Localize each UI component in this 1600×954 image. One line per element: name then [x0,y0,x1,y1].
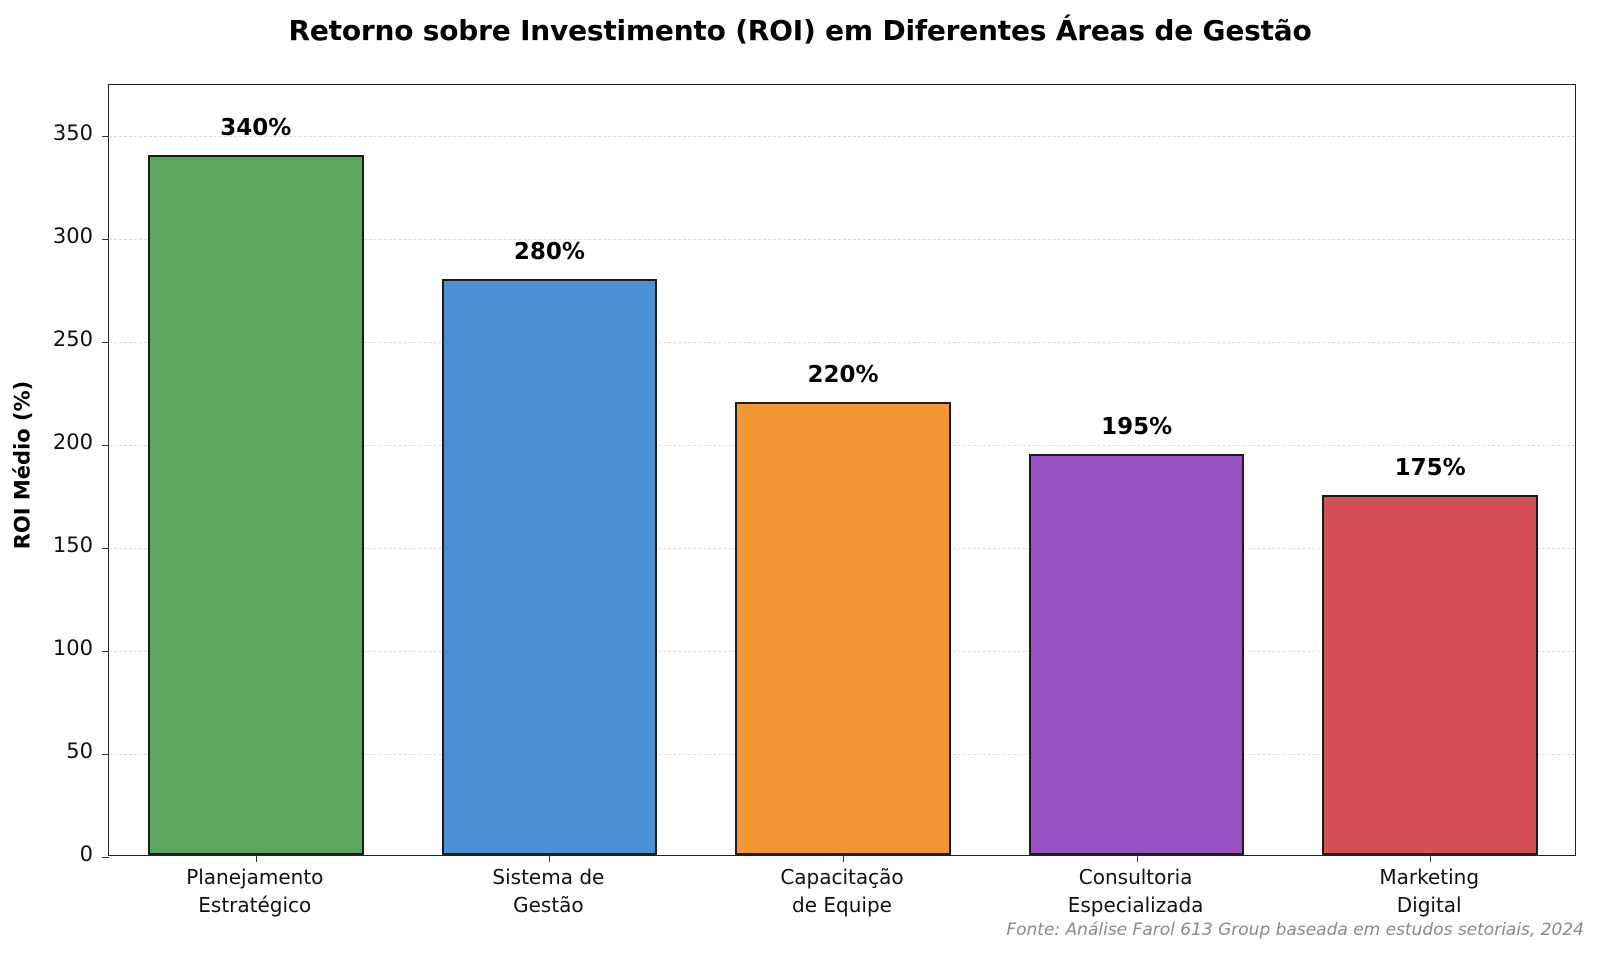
bar[interactable] [1322,495,1538,855]
x-tick-mark [1137,855,1138,862]
x-tick-label: ConsultoriaEspecializada [989,864,1283,919]
bar-value-label: 340% [109,115,403,141]
bar-value-label: 175% [1283,455,1577,481]
y-axis-label: ROI Médio (%) [10,380,34,549]
y-tick-label: 250 [23,327,93,351]
bar[interactable] [735,402,951,855]
chart-title: Retorno sobre Investimento (ROI) em Dife… [0,14,1600,47]
bar-value-label: 220% [696,362,990,388]
x-tick-label-line: Digital [1282,892,1576,920]
x-tick-label: Sistema deGestão [402,864,696,919]
y-tick-mark [102,136,109,137]
x-tick-label: MarketingDigital [1282,864,1576,919]
bar[interactable] [148,155,364,855]
x-tick-label-line: de Equipe [695,892,989,920]
y-tick-label: 50 [23,739,93,763]
x-tick-mark [256,855,257,862]
x-tick-label-line: Consultoria [989,864,1283,892]
chart-figure: Retorno sobre Investimento (ROI) em Dife… [0,0,1600,954]
x-tick-label: Capacitaçãode Equipe [695,864,989,919]
y-tick-label: 150 [23,533,93,557]
y-tick-mark [102,651,109,652]
y-tick-label: 350 [23,121,93,145]
x-tick-label: PlanejamentoEstratégico [108,864,402,919]
x-tick-label-line: Estratégico [108,892,402,920]
y-tick-mark [102,445,109,446]
y-tick-mark [102,548,109,549]
y-tick-mark [102,754,109,755]
x-tick-label-line: Sistema de [402,864,696,892]
y-tick-label: 300 [23,224,93,248]
x-tick-label-line: Planejamento [108,864,402,892]
x-tick-label-line: Capacitação [695,864,989,892]
bar-value-label: 195% [990,414,1284,440]
y-tick-mark [102,342,109,343]
y-tick-label: 200 [23,430,93,454]
x-tick-mark [549,855,550,862]
x-tick-label-line: Especializada [989,892,1283,920]
y-tick-label: 0 [23,842,93,866]
bar[interactable] [1029,454,1245,855]
bar[interactable] [442,279,658,855]
y-tick-label: 100 [23,636,93,660]
x-tick-label-line: Gestão [402,892,696,920]
plot-area: 050100150200250300350 340%280%220%195%17… [108,84,1576,856]
x-tick-mark [1430,855,1431,862]
x-tick-label-line: Marketing [1282,864,1576,892]
bar-value-label: 280% [403,239,697,265]
y-tick-mark [102,857,109,858]
source-note: Fonte: Análise Farol 613 Group baseada e… [1006,920,1584,940]
y-tick-mark [102,239,109,240]
x-tick-mark [843,855,844,862]
